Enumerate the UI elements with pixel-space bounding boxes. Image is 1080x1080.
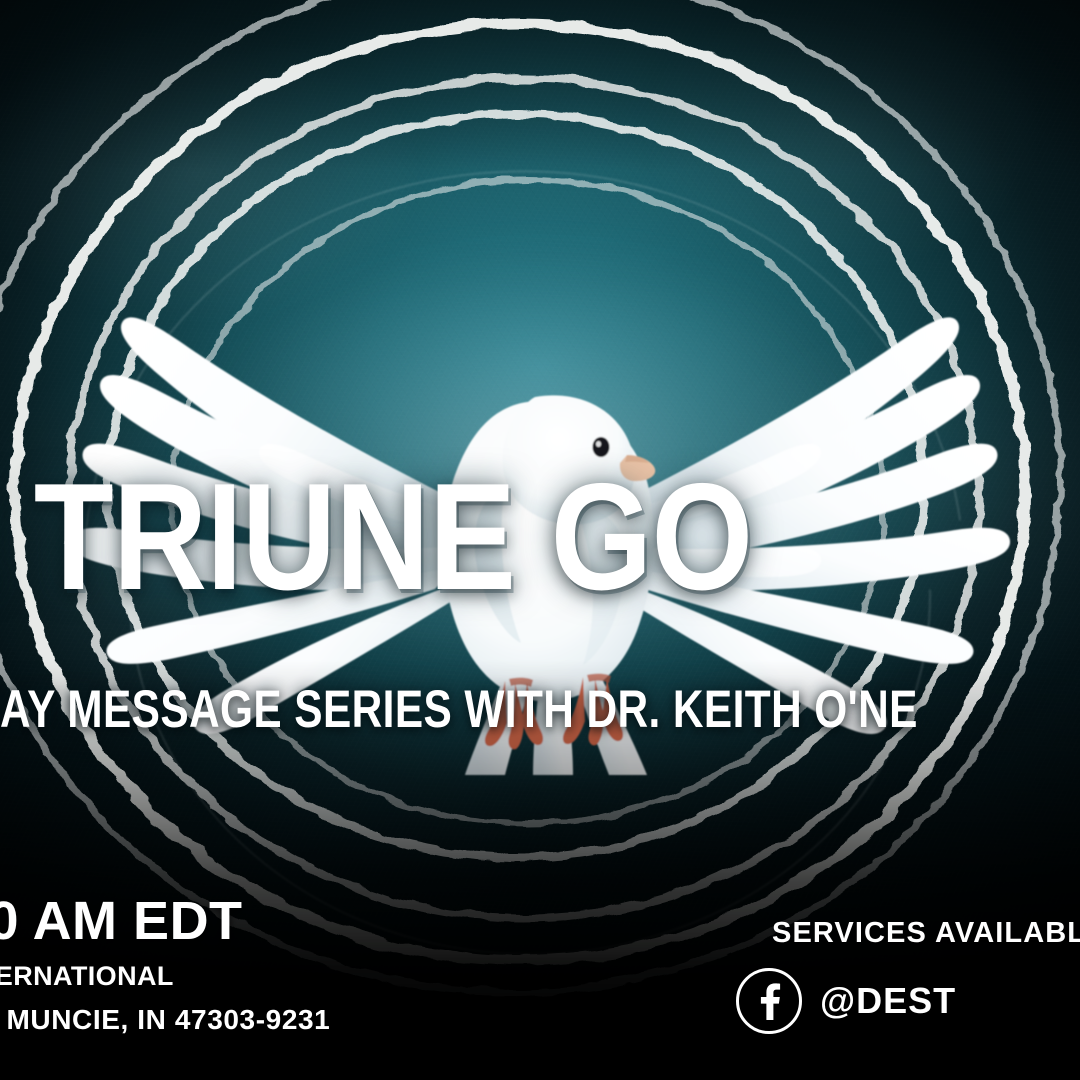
services-available-label: SERVICES AVAILABL <box>772 917 1080 950</box>
page-title: E TRIUNE GO <box>0 468 1030 608</box>
service-time: 00 AM EDT <box>0 892 578 950</box>
online-services-block: SERVICES AVAILABL @DEST <box>736 917 1080 1034</box>
series-subtitle: NDAY MESSAGE SERIES WITH DR. KEITH O'NE <box>0 679 994 740</box>
promo-poster: E TRIUNE GO NDAY MESSAGE SERIES WITH DR.… <box>0 0 1080 1080</box>
street-address: UE MUNCIE, IN 47303-9231 <box>0 1004 578 1036</box>
organization-name: NTERNATIONAL <box>0 961 578 993</box>
social-handle[interactable]: @DEST <box>820 980 956 1022</box>
social-row: @DEST <box>736 968 1080 1034</box>
service-details-block: 00 AM EDT NTERNATIONAL UE MUNCIE, IN 473… <box>0 892 578 1036</box>
facebook-f-icon[interactable] <box>736 968 802 1034</box>
